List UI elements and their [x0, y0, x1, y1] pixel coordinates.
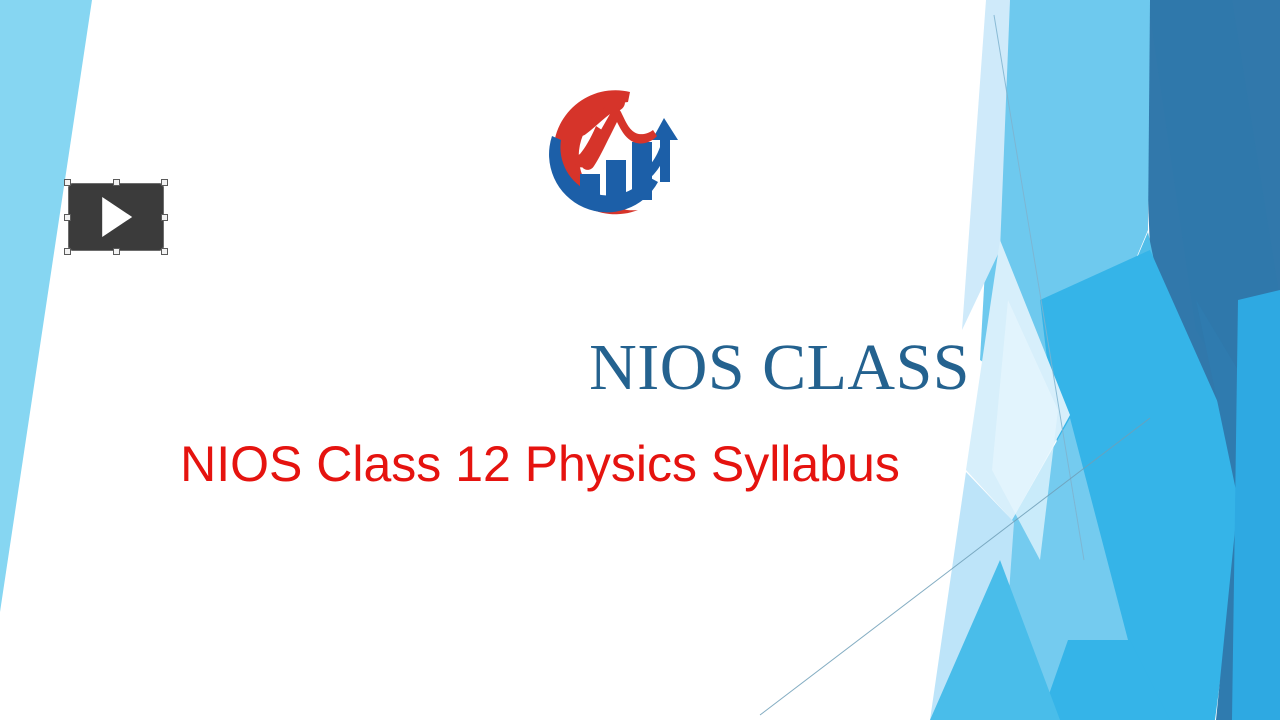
resize-handle-ne[interactable] — [161, 179, 168, 186]
resize-handle-e[interactable] — [161, 214, 168, 221]
facet-azure-mid — [1040, 250, 1248, 720]
resize-handle-s[interactable] — [113, 248, 120, 255]
facet-sky-top — [980, 0, 1150, 420]
facet-pale-upper — [962, 0, 1010, 330]
facet-azure-right-bottom — [1232, 290, 1280, 720]
resize-handle-n[interactable] — [113, 179, 120, 186]
resize-handle-se[interactable] — [161, 248, 168, 255]
resize-handle-nw[interactable] — [64, 179, 71, 186]
resize-handle-sw[interactable] — [64, 248, 71, 255]
nios-class-logo — [518, 78, 698, 238]
facet-azure-bottom — [1040, 640, 1170, 720]
video-frame[interactable] — [68, 183, 164, 251]
slide-title[interactable]: NIOS CLASS — [200, 334, 970, 401]
hairline-upper — [994, 15, 1084, 560]
left-blue-wedge — [0, 0, 92, 612]
facet-deep-right — [1140, 0, 1280, 470]
logo-bar-1 — [580, 174, 600, 200]
logo-bar-3 — [632, 142, 652, 200]
facet-pale-bottom — [930, 472, 1014, 720]
slide-subtitle[interactable]: NIOS Class 12 Physics Syllabus — [110, 437, 970, 492]
logo-bar-2 — [606, 160, 626, 200]
video-placeholder-object[interactable] — [68, 183, 164, 251]
presentation-slide: NIOS CLASS NIOS Class 12 Physics Syllabu… — [0, 0, 1280, 720]
logo-up-arrow — [652, 118, 678, 182]
facet-pale-overlay — [992, 300, 1058, 560]
facet-light-bottom — [1000, 418, 1128, 720]
facet-light-descend — [1068, 232, 1200, 640]
resize-handle-w[interactable] — [64, 214, 71, 221]
facet-azure-lowest — [930, 560, 1060, 720]
facet-steel-upper — [1148, 0, 1280, 470]
facet-deep-lower — [1196, 300, 1280, 720]
facet-pale-mid — [966, 240, 1070, 520]
play-icon[interactable] — [102, 197, 132, 237]
